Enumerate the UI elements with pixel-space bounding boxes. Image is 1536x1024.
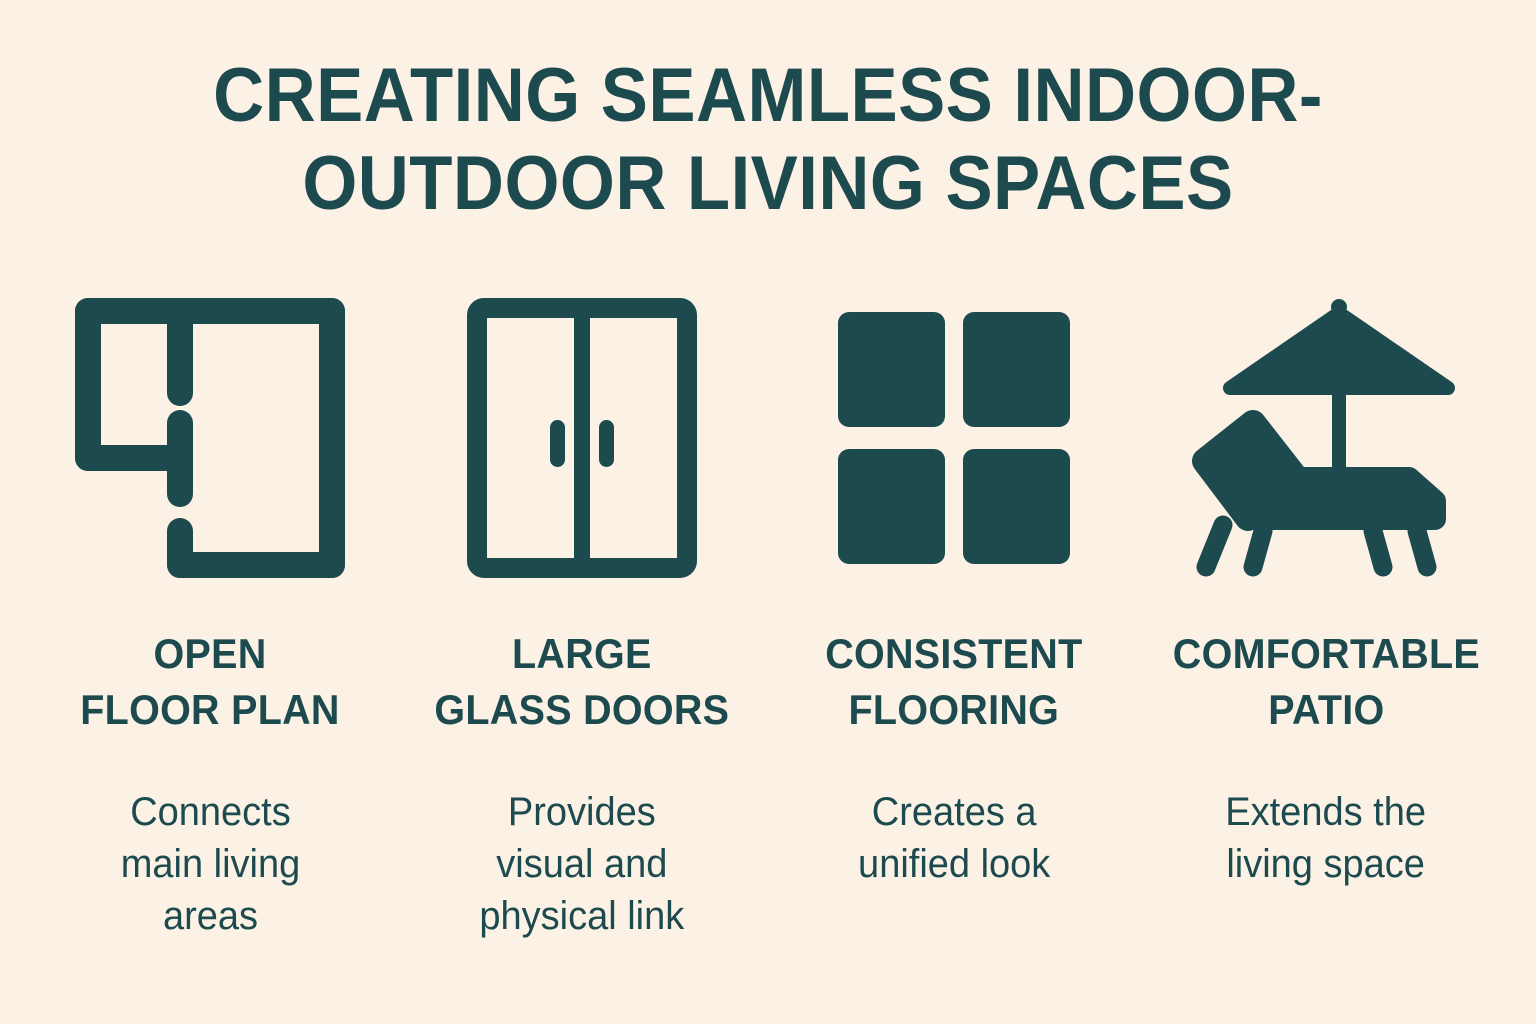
- feature-column-large-glass-doors: LARGE GLASS DOORS Provides visual and ph…: [396, 288, 768, 942]
- feature-description: Provides visual and physical link: [480, 786, 685, 942]
- glass-doors-icon: [432, 288, 732, 588]
- page-title: CREATING SEAMLESS INDOOR- OUTDOOR LIVING…: [0, 52, 1536, 228]
- feature-label: LARGE GLASS DOORS: [435, 626, 730, 738]
- feature-column-consistent-flooring: CONSISTENT FLOORING Creates a unified lo…: [768, 288, 1140, 890]
- title-line-2: OUTDOOR LIVING SPACES: [137, 140, 1398, 228]
- feature-label: COMFORTABLE PATIO: [1172, 626, 1479, 738]
- tile-top-right: [963, 312, 1070, 427]
- title-line-1: CREATING SEAMLESS INDOOR-: [137, 52, 1398, 140]
- infographic-poster: CREATING SEAMLESS INDOOR- OUTDOOR LIVING…: [0, 0, 1536, 1024]
- patio-lounger-umbrella-icon: [1176, 288, 1476, 588]
- feature-label: CONSISTENT FLOORING: [825, 626, 1082, 738]
- floor-plan-icon: [60, 288, 360, 588]
- feature-description: Extends the living space: [1226, 786, 1427, 890]
- feature-column-comfortable-patio: COMFORTABLE PATIO Extends the living spa…: [1140, 288, 1512, 890]
- tile-bottom-right: [963, 449, 1070, 564]
- feature-column-open-floor-plan: OPEN FLOOR PLAN Connects main living are…: [24, 288, 396, 942]
- tile-bottom-left: [838, 449, 945, 564]
- feature-description: Connects main living areas: [120, 786, 300, 942]
- feature-description: Creates a unified look: [858, 786, 1050, 890]
- lounge-chair-shape: [1205, 423, 1435, 567]
- tile-top-left: [838, 312, 945, 427]
- feature-label: OPEN FLOOR PLAN: [80, 626, 339, 738]
- tile-grid-icon: [804, 288, 1104, 588]
- feature-columns: OPEN FLOOR PLAN Connects main living are…: [24, 288, 1512, 942]
